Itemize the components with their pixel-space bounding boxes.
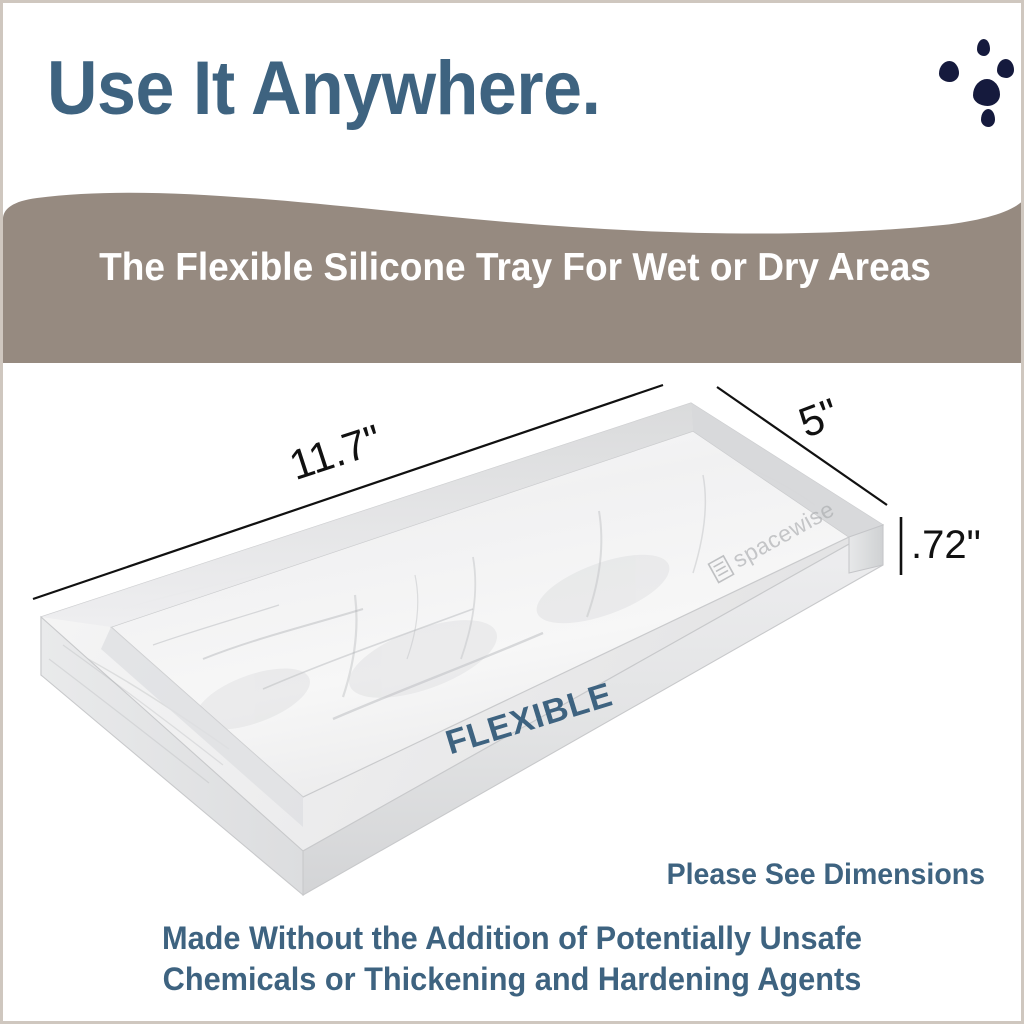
safety-claim-line-2: Chemicals or Thickening and Hardening Ag… [23, 959, 1000, 1000]
safety-claim-line-1: Made Without the Addition of Potentially… [23, 918, 1000, 959]
infographic-canvas: Use It Anywhere. The Flexible Silicone T… [0, 0, 1024, 1024]
product-illustration: spacewise [3, 359, 1024, 919]
see-dimensions-note: Please See Dimensions [52, 858, 985, 892]
safety-claim: Made Without the Addition of Potentially… [23, 918, 1000, 1000]
water-droplets-icon [933, 17, 1019, 107]
dimension-height-label: .72" [911, 523, 981, 568]
banner-subtitle: The Flexible Silicone Tray For Wet or Dr… [29, 246, 1002, 290]
page-title: Use It Anywhere. [47, 51, 600, 127]
